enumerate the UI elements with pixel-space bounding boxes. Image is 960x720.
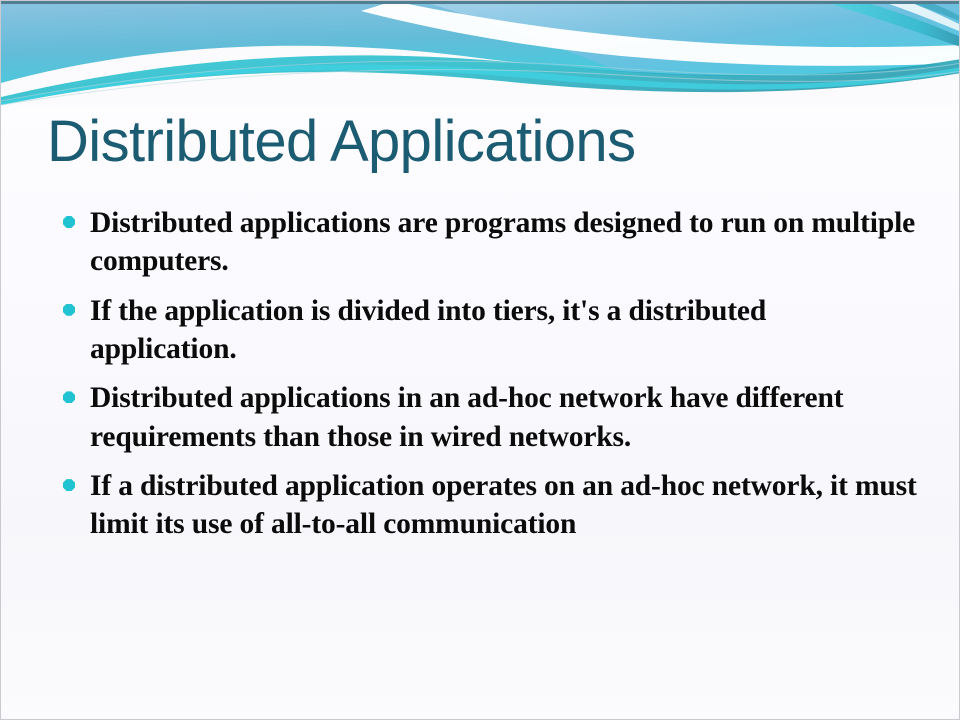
bullet-point-icon [63, 479, 75, 491]
bullet-point-icon [63, 304, 75, 316]
presentation-slide: Distributed Applications Distributed app… [0, 0, 960, 720]
flow-wave-banner [1, 1, 960, 105]
bullet-text: If a distributed application operates on… [90, 467, 919, 544]
slide-title: Distributed Applications [47, 113, 887, 171]
bullet-item: If the application is divided into tiers… [57, 292, 919, 369]
bullet-text: Distributed applications in an ad-hoc ne… [90, 379, 919, 456]
slide-body-placeholder: Distributed applications are programs de… [57, 204, 919, 544]
banner-top-border [1, 1, 960, 4]
bullet-item: Distributed applications are programs de… [57, 204, 919, 281]
bullet-text: Distributed applications are programs de… [90, 204, 919, 281]
bullet-point-icon [63, 216, 75, 228]
bullet-item: If a distributed application operates on… [57, 467, 919, 544]
bullet-text: If the application is divided into tiers… [90, 292, 919, 369]
bullet-point-icon [63, 391, 75, 403]
bullet-item: Distributed applications in an ad-hoc ne… [57, 379, 919, 456]
wave-graphic [1, 1, 960, 105]
